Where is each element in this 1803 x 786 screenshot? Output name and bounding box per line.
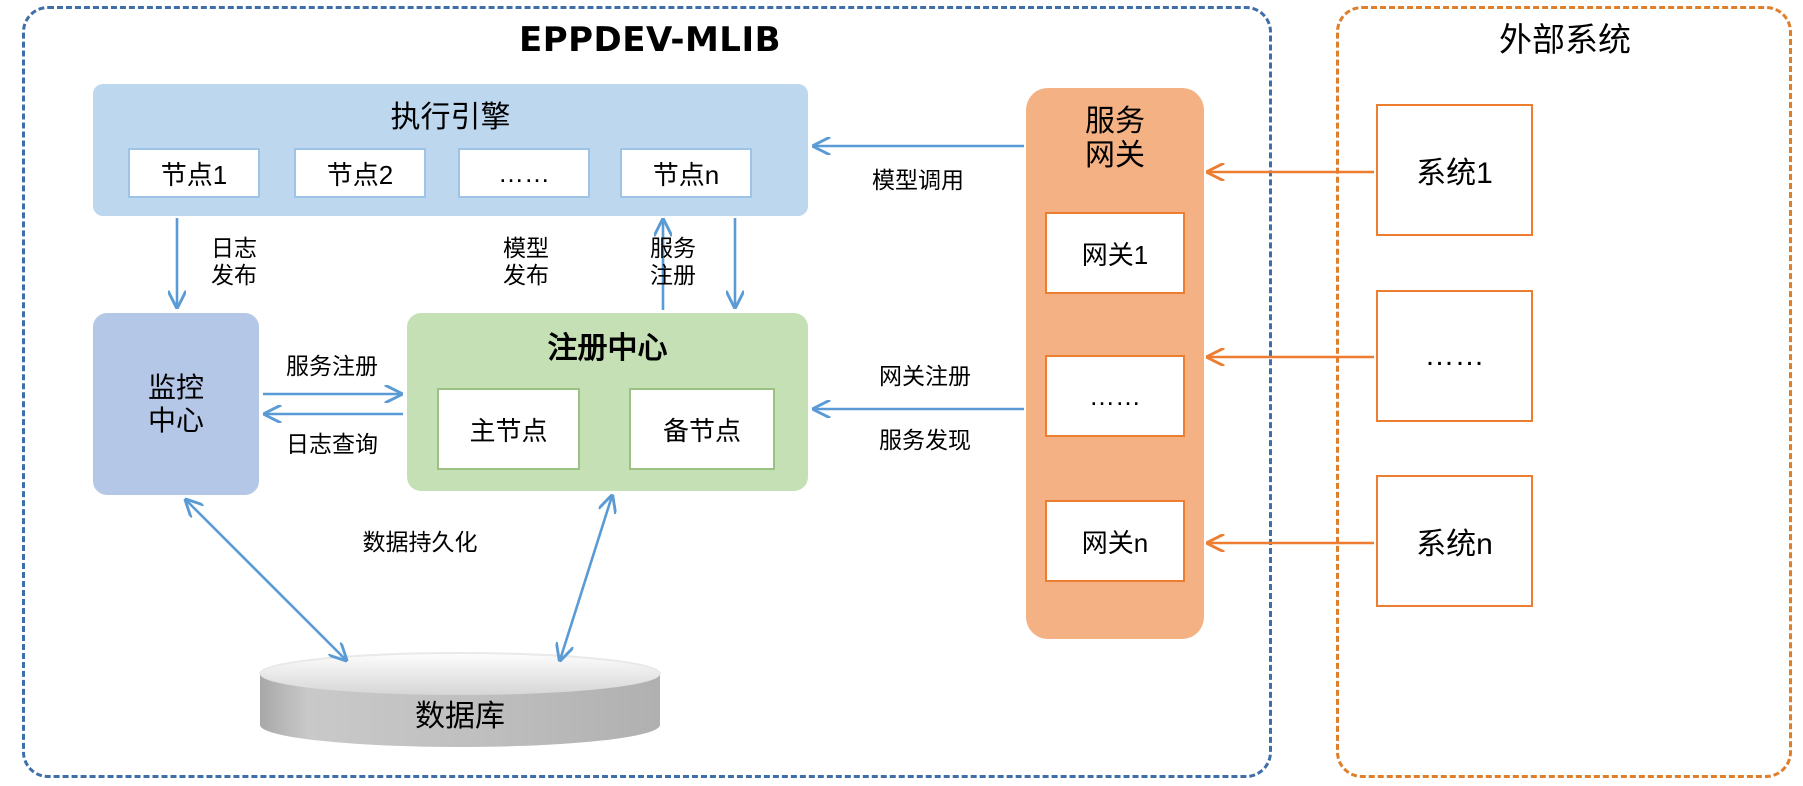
external-system-1[interactable]: 系统1 [1376, 104, 1533, 236]
external-zone-title: 外部系统 [1360, 14, 1770, 60]
database-label: 数据库 [258, 692, 662, 734]
external-system-ellipsis[interactable]: …… [1376, 290, 1533, 422]
architecture-diagram: EPPDEV-MLIB 外部系统 执行引擎 节点1 节点2 …… 节点n 监控 … [0, 0, 1803, 786]
service-gateway-title: 服务 网关 [1026, 96, 1204, 182]
monitor-center-panel[interactable]: 监控 中心 [93, 313, 259, 495]
edge-label-gateway-register: 网关注册 [845, 360, 1005, 392]
gateway-1[interactable]: 网关1 [1045, 212, 1185, 294]
edge-label-model-invoke: 模型调用 [838, 164, 998, 196]
edge-label-service-register-top: 服务 注册 [625, 230, 721, 294]
edge-label-data-persist: 数据持久化 [330, 526, 510, 558]
engine-node-2[interactable]: 节点2 [294, 148, 426, 198]
registry-node-primary[interactable]: 主节点 [437, 388, 580, 470]
registry-center-title: 注册中心 [407, 323, 808, 367]
gateway-ellipsis[interactable]: …… [1045, 355, 1185, 437]
engine-node-1[interactable]: 节点1 [128, 148, 260, 198]
edge-label-model-publish: 模型 发布 [478, 230, 574, 294]
registry-node-standby[interactable]: 备节点 [629, 388, 775, 470]
execution-engine-title: 执行引擎 [93, 92, 808, 136]
edge-label-log-publish: 日志 发布 [186, 230, 282, 294]
external-system-n[interactable]: 系统n [1376, 475, 1533, 607]
engine-node-ellipsis[interactable]: …… [458, 148, 590, 198]
edge-label-service-discovery: 服务发现 [845, 424, 1005, 456]
engine-node-n[interactable]: 节点n [620, 148, 752, 198]
main-zone-title: EPPDEV-MLIB [430, 18, 870, 62]
edge-label-log-query: 日志查询 [262, 428, 402, 460]
edge-label-service-register-mid: 服务注册 [262, 350, 402, 382]
gateway-n[interactable]: 网关n [1045, 500, 1185, 582]
